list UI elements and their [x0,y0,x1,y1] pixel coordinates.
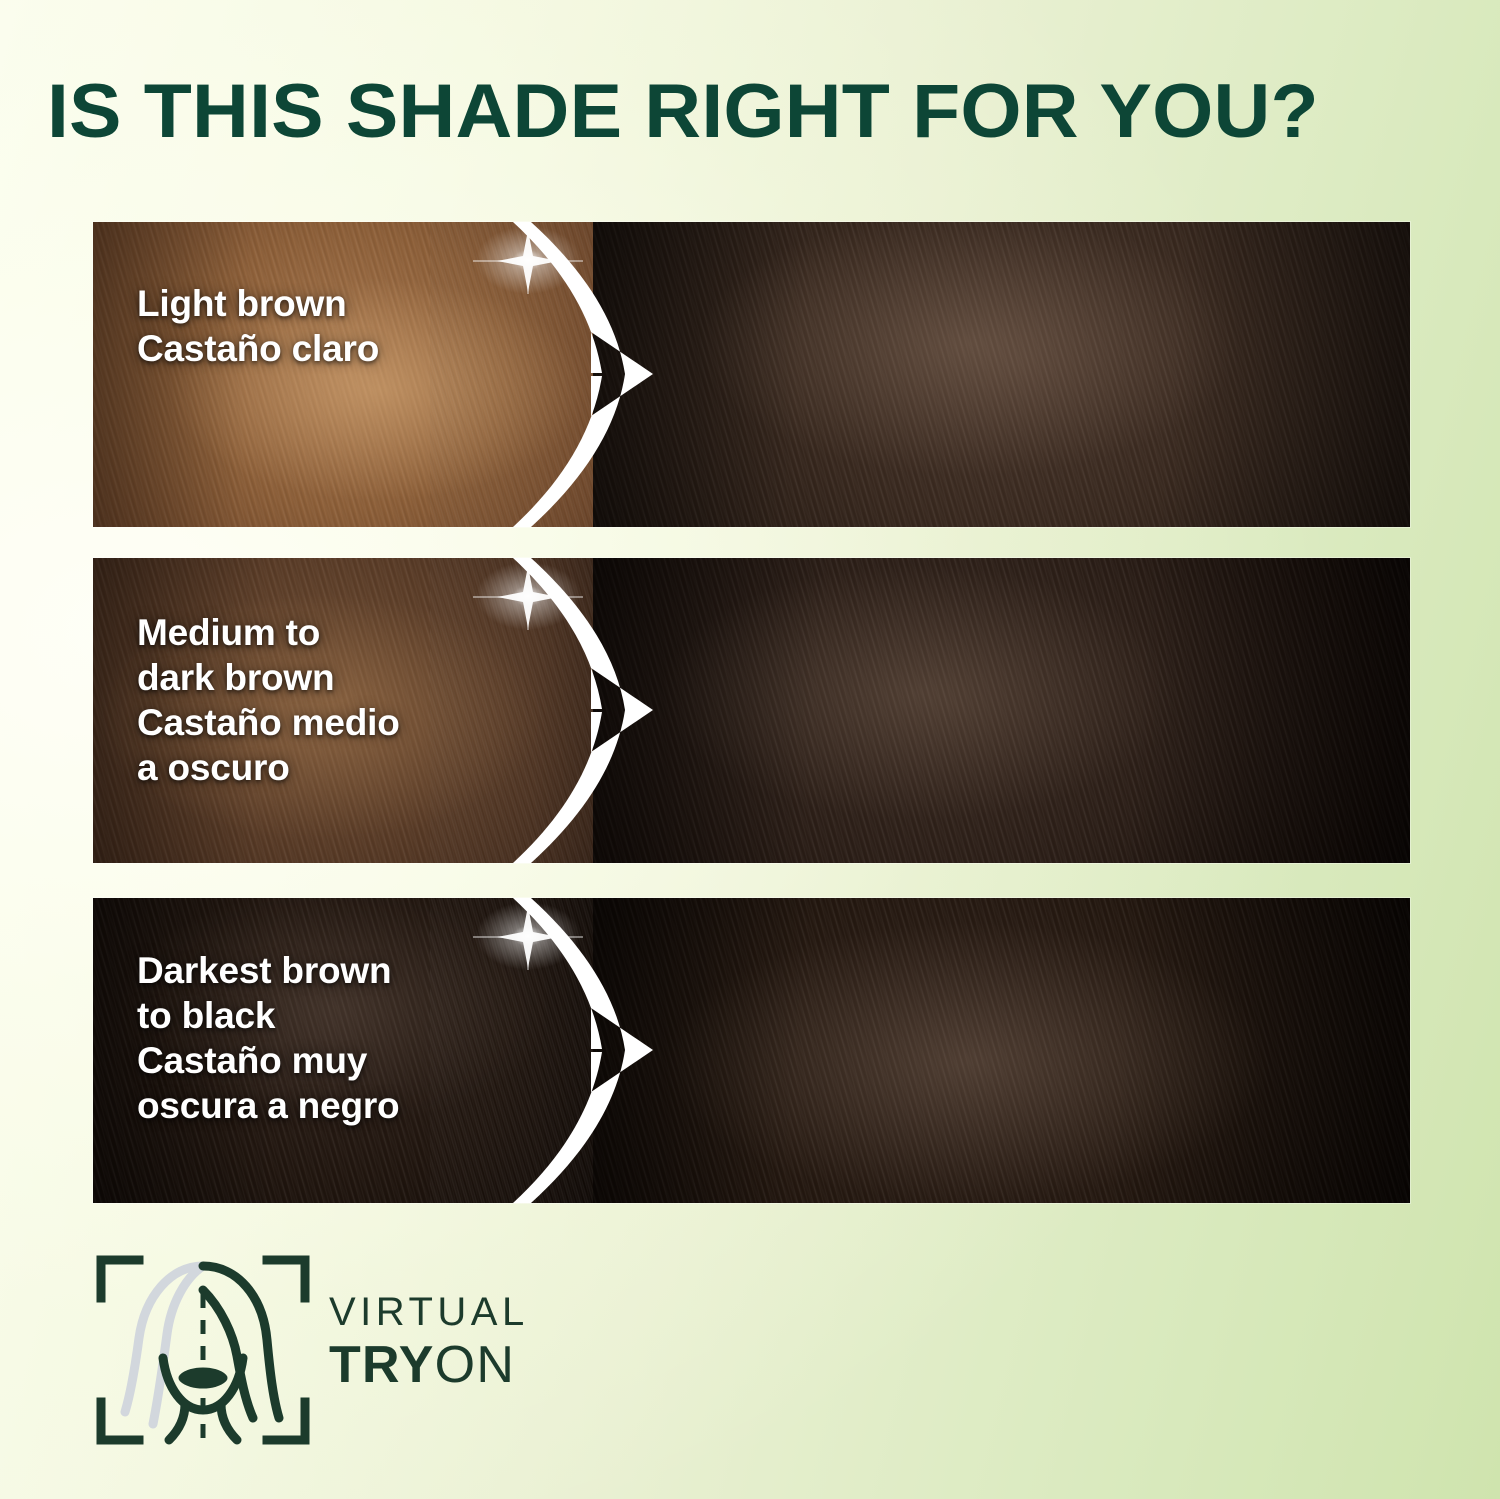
shade-panel[interactable]: Medium to dark brown Castaño medio a osc… [93,558,1410,863]
hair-sheen [593,898,1410,1203]
vto-tryon-label: TRYON [329,1336,529,1394]
vto-virtual-label: VIRTUAL [329,1290,529,1334]
poster-canvas: IS THIS SHADE RIGHT FOR YOU? [0,0,1500,1499]
hair-sheen [593,558,1410,863]
virtual-try-on-wordmark: VIRTUAL TRYON [329,1290,529,1394]
hair-sheen [593,222,1410,527]
footer: VIRTUAL TRYON TRY ON YOUR SHADE AT GARNI… [93,1252,1423,1452]
shade-caption: Darkest brown to black Castaño muy oscur… [137,948,399,1128]
shade-panel[interactable]: Darkest brown to black Castaño muy oscur… [93,898,1410,1203]
vto-try-label: TRY [329,1336,435,1394]
shade-caption: Light brown Castaño claro [137,281,379,371]
hair-swatch-after [593,222,1410,527]
hair-swatch-after [593,898,1410,1203]
vto-on-label: ON [435,1336,515,1394]
page-title: IS THIS SHADE RIGHT FOR YOU? [47,72,1500,152]
virtual-try-on-face-scan-icon[interactable] [93,1252,313,1448]
shade-caption: Medium to dark brown Castaño medio a osc… [137,610,400,790]
shade-panel[interactable]: Light brown Castaño claro [93,222,1410,527]
hair-swatch-after [593,558,1410,863]
